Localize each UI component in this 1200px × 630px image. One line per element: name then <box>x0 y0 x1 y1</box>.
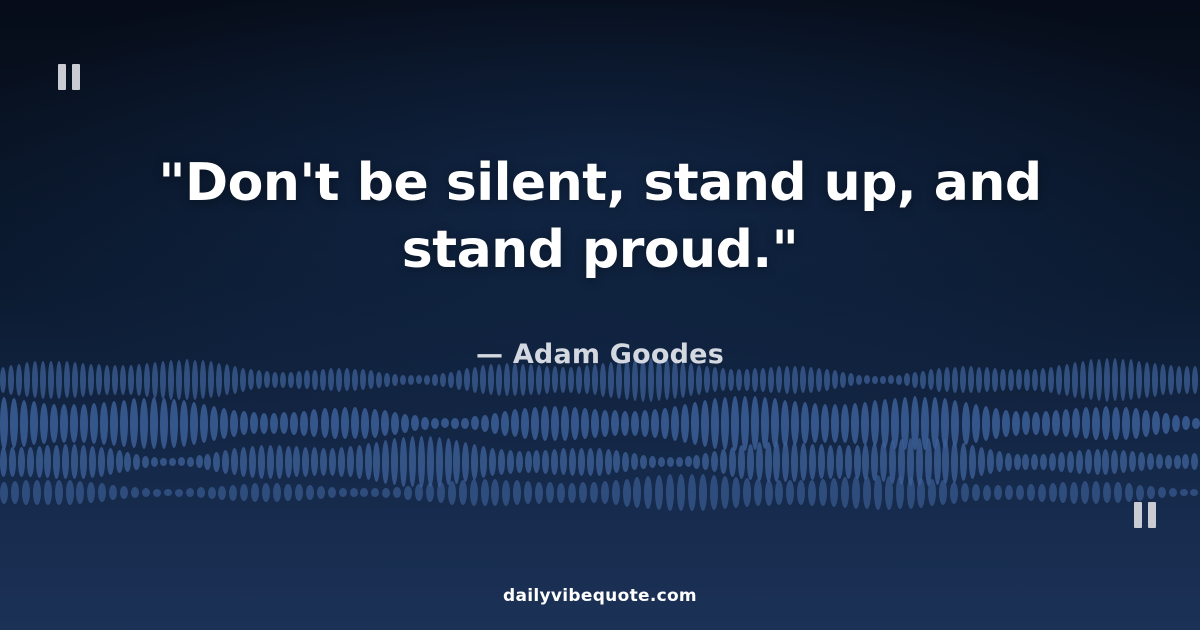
website-label: dailyvibequote.com <box>0 586 1200 606</box>
quote-card: "Don't be silent, stand up, and stand pr… <box>0 0 1200 630</box>
quote-author: — Adam Goodes <box>90 339 1110 370</box>
quote-close-icon <box>1134 502 1156 528</box>
quote-open-icon <box>58 64 80 90</box>
quote-content: "Don't be silent, stand up, and stand pr… <box>0 150 1200 370</box>
quote-text: "Don't be silent, stand up, and stand pr… <box>90 150 1110 283</box>
waveform-decoration <box>0 350 1200 570</box>
